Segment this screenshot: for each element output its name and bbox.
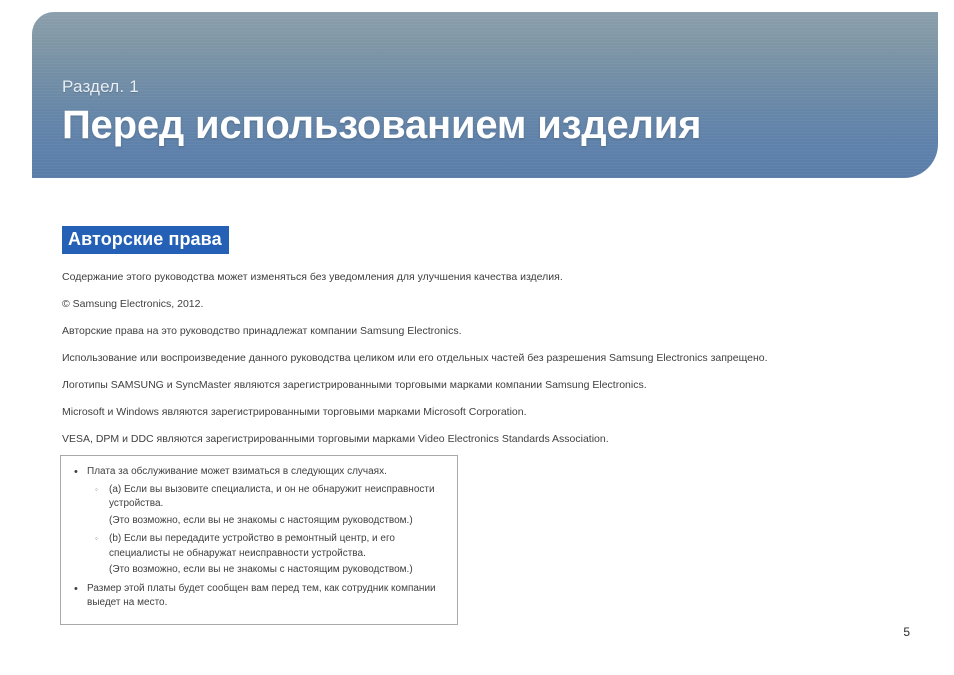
paragraph: Авторские права на это руководство прина… [62, 325, 912, 338]
list-item-text: (a) Если вы вызовите специалиста, и он н… [109, 484, 435, 510]
list-item: • Плата за обслуживание может взиматься … [65, 465, 447, 480]
list-item-text: (Это возможно, если вы не знакомы с наст… [109, 515, 413, 526]
paragraph: Использование или воспроизведение данног… [62, 352, 912, 365]
page-title: Перед использованием изделия [62, 104, 918, 147]
paragraph: VESA, DPM и DDC являются зарегистрирован… [62, 433, 912, 446]
list-item: ◦ (b) Если вы передадите устройство в ре… [65, 532, 447, 561]
service-fee-note-box: • Плата за обслуживание может взиматься … [60, 455, 458, 625]
paragraph: © Samsung Electronics, 2012. [62, 298, 912, 311]
list-item: ◦ (a) Если вы вызовите специалиста, и он… [65, 483, 447, 512]
note-list: • Плата за обслуживание может взиматься … [65, 465, 447, 611]
paragraph-list: Содержание этого руководства может измен… [62, 271, 912, 474]
list-item-text: (Это возможно, если вы не знакомы с наст… [109, 564, 413, 575]
circle-bullet-icon: ◦ [95, 532, 98, 547]
document-page: Раздел. 1 Перед использованием изделия А… [0, 0, 954, 675]
paragraph: Содержание этого руководства может измен… [62, 271, 912, 284]
page-number: 5 [903, 625, 910, 639]
bullet-icon: • [74, 465, 78, 480]
content-area: Авторские права Содержание этого руковод… [62, 226, 912, 488]
circle-bullet-icon: ◦ [95, 483, 98, 498]
list-item-text: Размер этой платы будет сообщен вам пере… [87, 583, 436, 609]
list-item: • Размер этой платы будет сообщен вам пе… [65, 582, 447, 611]
paragraph: Логотипы SAMSUNG и SyncMaster являются з… [62, 379, 912, 392]
list-item-note: (Это возможно, если вы не знакомы с наст… [65, 514, 447, 529]
chapter-label: Раздел. 1 [62, 78, 918, 97]
list-item-note: (Это возможно, если вы не знакомы с наст… [65, 563, 447, 578]
list-item-text: (b) Если вы передадите устройство в ремо… [109, 533, 395, 559]
list-item-text: Плата за обслуживание может взиматься в … [87, 466, 387, 477]
bullet-icon: • [74, 582, 78, 597]
banner-text-block: Раздел. 1 Перед использованием изделия [62, 78, 918, 147]
paragraph: Microsoft и Windows являются зарегистрир… [62, 406, 912, 419]
chapter-banner: Раздел. 1 Перед использованием изделия [32, 12, 938, 178]
section-heading-copyright: Авторские права [62, 226, 229, 254]
